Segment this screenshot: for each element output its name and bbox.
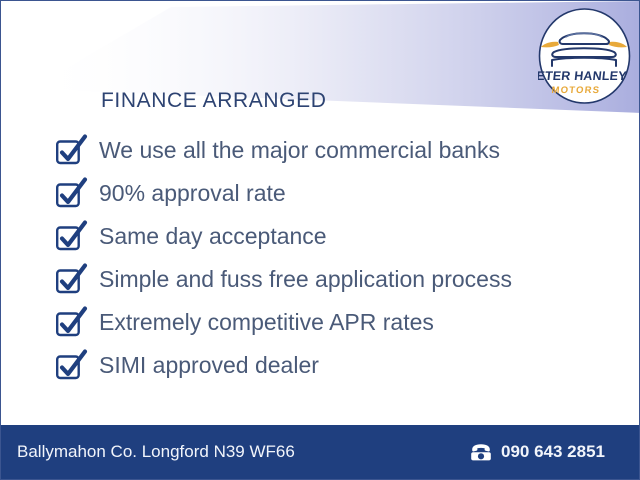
dealer-address: Ballymahon Co. Longford N39 WF66	[17, 442, 295, 462]
peter-hanley-motors-logo: PETER HANLEY MOTORS	[538, 8, 631, 104]
svg-text:PETER HANLEY: PETER HANLEY	[538, 69, 628, 83]
checkbox-checked-icon	[55, 263, 89, 294]
page-title: FINANCE ARRANGED	[101, 89, 326, 113]
phone-group[interactable]: 090 643 2851	[469, 442, 605, 462]
list-item: SIMI approved dealer	[55, 344, 615, 387]
list-item: Same day acceptance	[55, 215, 615, 258]
list-item-label: We use all the major commercial banks	[99, 139, 500, 162]
list-item: Extremely competitive APR rates	[55, 301, 615, 344]
checkbox-checked-icon	[55, 349, 89, 380]
finance-benefits-list: We use all the major commercial banks 90…	[55, 129, 615, 387]
checkbox-checked-icon	[55, 306, 89, 337]
checkbox-checked-icon	[55, 177, 89, 208]
list-item-label: Same day acceptance	[99, 225, 327, 248]
svg-text:MOTORS: MOTORS	[551, 85, 601, 96]
footer-bar: Ballymahon Co. Longford N39 WF66 090 643…	[1, 425, 639, 479]
list-item: We use all the major commercial banks	[55, 129, 615, 172]
list-item-label: 90% approval rate	[99, 182, 286, 205]
list-item-label: SIMI approved dealer	[99, 354, 319, 377]
checkbox-checked-icon	[55, 134, 89, 165]
telephone-icon	[469, 443, 493, 462]
list-item: 90% approval rate	[55, 172, 615, 215]
list-item-label: Extremely competitive APR rates	[99, 311, 434, 334]
finance-advert-card: PETER HANLEY MOTORS FINANCE ARRANGED We …	[0, 0, 640, 480]
checkbox-checked-icon	[55, 220, 89, 251]
list-item: Simple and fuss free application process	[55, 258, 615, 301]
dealer-phone-number[interactable]: 090 643 2851	[501, 442, 605, 462]
list-item-label: Simple and fuss free application process	[99, 268, 512, 291]
